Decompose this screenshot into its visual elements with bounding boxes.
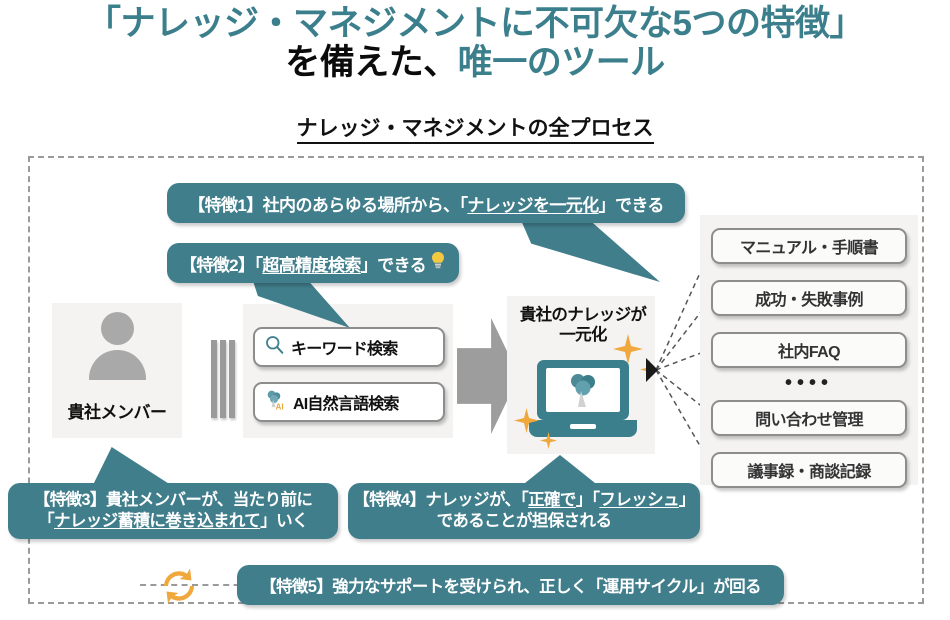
search-option-ai[interactable]: AI AI自然言語検索 bbox=[253, 382, 445, 422]
avatar-head bbox=[101, 312, 134, 345]
callout-feature-2-post: 」できる bbox=[361, 256, 426, 275]
callout-feature-2-underline: 超高精度検索 bbox=[262, 256, 360, 275]
headline-line-2-teal: 唯一のツール bbox=[458, 43, 665, 82]
headline-line-1: 「ナレッジ・マネジメントに不可欠な5つの特徴」 bbox=[0, 4, 950, 43]
callout-feature-5: 【特徴5】強力なサポートを受けられ、正しく「運用サイクル」が回る bbox=[237, 565, 784, 605]
callout-feature-1-pre: 【特徴1】社内のあらゆる場所から、「 bbox=[188, 196, 467, 215]
hub-label-line-2: 一元化 bbox=[503, 325, 663, 345]
callout-feature-3: 【特徴3】貴社メンバーが、当たり前に 「ナレッジ蓄積に巻き込まれて」いく bbox=[8, 483, 338, 539]
callout-feature-4-underline-2: フレッシュ bbox=[599, 491, 679, 509]
knowledge-list-ellipsis: •••• bbox=[711, 372, 907, 395]
search-option-ai-label: AI自然言語検索 bbox=[293, 390, 399, 414]
subtitle: ナレッジ・マネジメントの全プロセス bbox=[0, 112, 950, 142]
callout-feature-4: 【特徴4】ナレッジが、「正確で」「フレッシュ」 であることが担保される bbox=[348, 483, 700, 539]
callout-feature-1-underline: ナレッジを一元化 bbox=[467, 196, 598, 215]
callout-feature-2-pre: 【特徴2】「 bbox=[180, 256, 262, 275]
knowledge-item-2[interactable]: 社内FAQ bbox=[711, 332, 907, 368]
callout-feature-1: 【特徴1】社内のあらゆる場所から、「ナレッジを一元化」できる bbox=[167, 183, 685, 223]
barrier-bars-icon bbox=[211, 340, 237, 418]
callout-feature-4-underline-1: 正確で bbox=[528, 491, 576, 509]
ai-tree-icon: AI bbox=[264, 388, 287, 416]
refresh-cycle-icon bbox=[156, 563, 202, 609]
hub-label: 貴社のナレッジが 一元化 bbox=[503, 305, 663, 345]
callout-feature-3-line-1: 【特徴3】貴社メンバーが、当たり前に bbox=[34, 491, 313, 509]
search-option-keyword-label: キーワード検索 bbox=[291, 335, 397, 359]
knowledge-tree-icon bbox=[567, 371, 599, 409]
subtitle-text: ナレッジ・マネジメントの全プロセス bbox=[297, 117, 654, 144]
search-option-keyword[interactable]: キーワード検索 bbox=[253, 327, 445, 367]
callout-feature-3-underline: ナレッジ蓄積に巻き込まれて bbox=[54, 512, 260, 530]
callout-feature-4-line-1-mid: 」「 bbox=[576, 491, 600, 509]
laptop-icon bbox=[529, 360, 637, 440]
user-panel-label: 貴社メンバー bbox=[52, 398, 182, 423]
knowledge-item-4[interactable]: 議事録・商談記録 bbox=[711, 452, 907, 488]
knowledge-item-1[interactable]: 成功・失敗事例 bbox=[711, 280, 907, 316]
callout-feature-3-line-2-pre: 「 bbox=[38, 512, 54, 530]
hub-label-line-1: 貴社のナレッジが bbox=[503, 305, 663, 325]
callout-feature-5-text: 【特徴5】強力なサポートを受けられ、正しく「運用サイクル」が回る bbox=[260, 573, 761, 597]
headline-line-2-black: を備えた、 bbox=[285, 43, 458, 82]
callout-feature-1-post: 」できる bbox=[599, 196, 664, 215]
knowledge-item-3[interactable]: 問い合わせ管理 bbox=[711, 400, 907, 436]
callout-feature-3-line-2-post: 」いく bbox=[260, 512, 308, 530]
infographic-root: 「ナレッジ・マネジメントに不可欠な5つの特徴」 を備えた、唯一のツール ナレッジ… bbox=[0, 0, 950, 620]
svg-text:AI: AI bbox=[276, 402, 284, 411]
callout-feature-4-line-2: であることが担保される bbox=[437, 512, 612, 530]
magnifier-icon bbox=[264, 334, 285, 360]
headline-line-2: を備えた、唯一のツール bbox=[0, 43, 950, 82]
callout-feature-4-line-1-pre: 【特徴4】ナレッジが、「 bbox=[353, 491, 528, 509]
callout-feature-4-line-1-post: 」 bbox=[679, 491, 695, 509]
person-avatar-icon bbox=[85, 312, 149, 378]
page-title: 「ナレッジ・マネジメントに不可欠な5つの特徴」 を備えた、唯一のツール bbox=[0, 4, 950, 82]
callout-feature-2: 【特徴2】「超高精度検索」できる bbox=[167, 243, 459, 283]
avatar-body bbox=[89, 350, 146, 380]
knowledge-item-0[interactable]: マニュアル・手順書 bbox=[711, 228, 907, 264]
lightbulb-icon bbox=[430, 251, 446, 275]
laptop-trackpad bbox=[570, 424, 596, 429]
